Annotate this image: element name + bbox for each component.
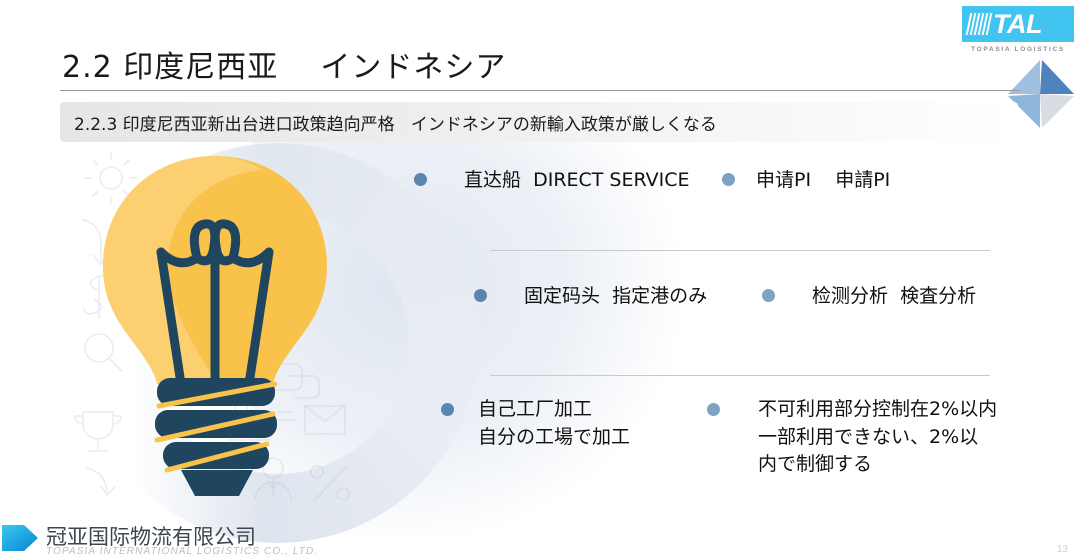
section-banner: 2.2.3 印度尼西亚新出台进口政策趋向严格 インドネシアの新輸入政策が厳しくな… xyxy=(60,102,1018,142)
page-title: 2.2 印度尼西亚 インドネシア xyxy=(62,42,506,86)
row3-left-text: 自己工厂加工 自分の工場で加工 xyxy=(478,396,630,451)
bullet-row2-right xyxy=(762,289,775,302)
tal-logo: TAL TOPASIA LOGISTICS xyxy=(962,6,1074,53)
background-ring-decoration xyxy=(78,143,478,543)
footer-company-name-en: TOPASIA INTERNATIONAL LOGISTICS CO., LTD… xyxy=(46,546,318,557)
bullet-row1-right xyxy=(722,173,735,186)
footer-hexagon-logo-icon xyxy=(2,519,42,557)
bullet-row2-left xyxy=(474,289,487,302)
bullet-row3-right xyxy=(707,403,720,416)
row2-left-text: 固定码头 指定港のみ xyxy=(524,283,707,311)
row1-right-text: 申请PI 申請PI xyxy=(756,167,890,195)
tal-logo-box: TAL xyxy=(962,6,1074,42)
bullet-row3-left xyxy=(441,403,454,416)
row2-right-text: 检测分析 検査分析 xyxy=(812,283,976,311)
row-divider-2 xyxy=(490,375,990,376)
row1-left-text: 直达船 DIRECT SERVICE xyxy=(464,167,690,195)
bullet-row1-left xyxy=(414,173,427,186)
background-business-icons xyxy=(55,150,415,500)
slide-canvas: TAL TOPASIA LOGISTICS 2.2 印度尼西亚 インドネシア 2… xyxy=(0,0,1080,560)
background-ring-fade xyxy=(60,130,260,560)
tal-stripes-icon xyxy=(966,13,993,35)
lightbulb-illustration xyxy=(95,152,335,497)
tal-logo-subtitle: TOPASIA LOGISTICS xyxy=(962,46,1074,53)
row3-right-text: 不可利用部分控制在2%以内 一部利用できない、2%以 内で制御する xyxy=(758,396,997,479)
page-number: 13 xyxy=(1057,544,1068,555)
title-divider xyxy=(60,90,1020,91)
tal-logo-word: TAL xyxy=(993,11,1042,38)
section-banner-text: 2.2.3 印度尼西亚新出台进口政策趋向严格 インドネシアの新輸入政策が厳しくな… xyxy=(60,110,717,135)
row-divider-1 xyxy=(490,250,990,251)
